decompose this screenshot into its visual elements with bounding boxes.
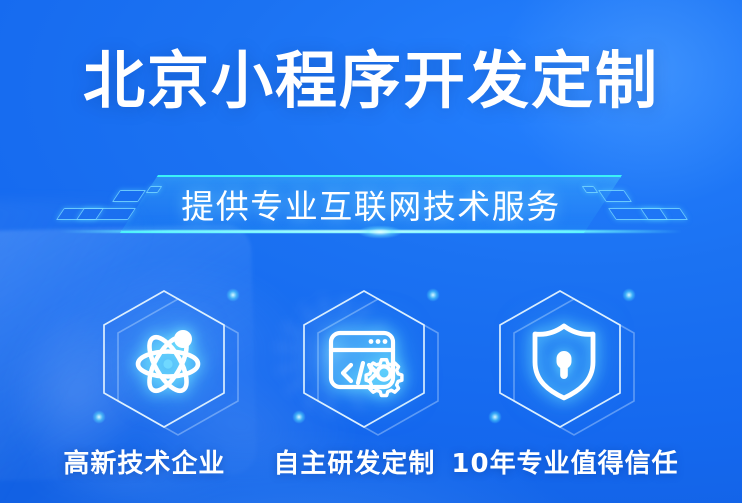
feature-item-3 bbox=[484, 282, 644, 442]
feature-caption-3: 10年专业值得信任 bbox=[451, 443, 678, 480]
promo-banner: 北京小程序开发定制 提供专业互联网技术服务 bbox=[0, 0, 742, 503]
code-window-gear-icon bbox=[288, 282, 448, 442]
shield-lock-icon bbox=[484, 282, 644, 442]
feature-item-2 bbox=[288, 282, 448, 442]
feature-caption-1: 高新技术企业 bbox=[63, 443, 225, 480]
feature-caption-2: 自主研发定制 bbox=[273, 443, 435, 480]
subtitle-banner: 提供专业互联网技术服务 bbox=[0, 168, 742, 242]
page-title: 北京小程序开发定制 bbox=[0, 48, 742, 113]
atom-icon bbox=[88, 282, 248, 442]
feature-captions: 高新技术企业 自主研发定制 10年专业值得信任 bbox=[0, 441, 742, 481]
feature-item-1 bbox=[88, 282, 248, 442]
subtitle-text: 提供专业互联网技术服务 bbox=[0, 168, 742, 240]
